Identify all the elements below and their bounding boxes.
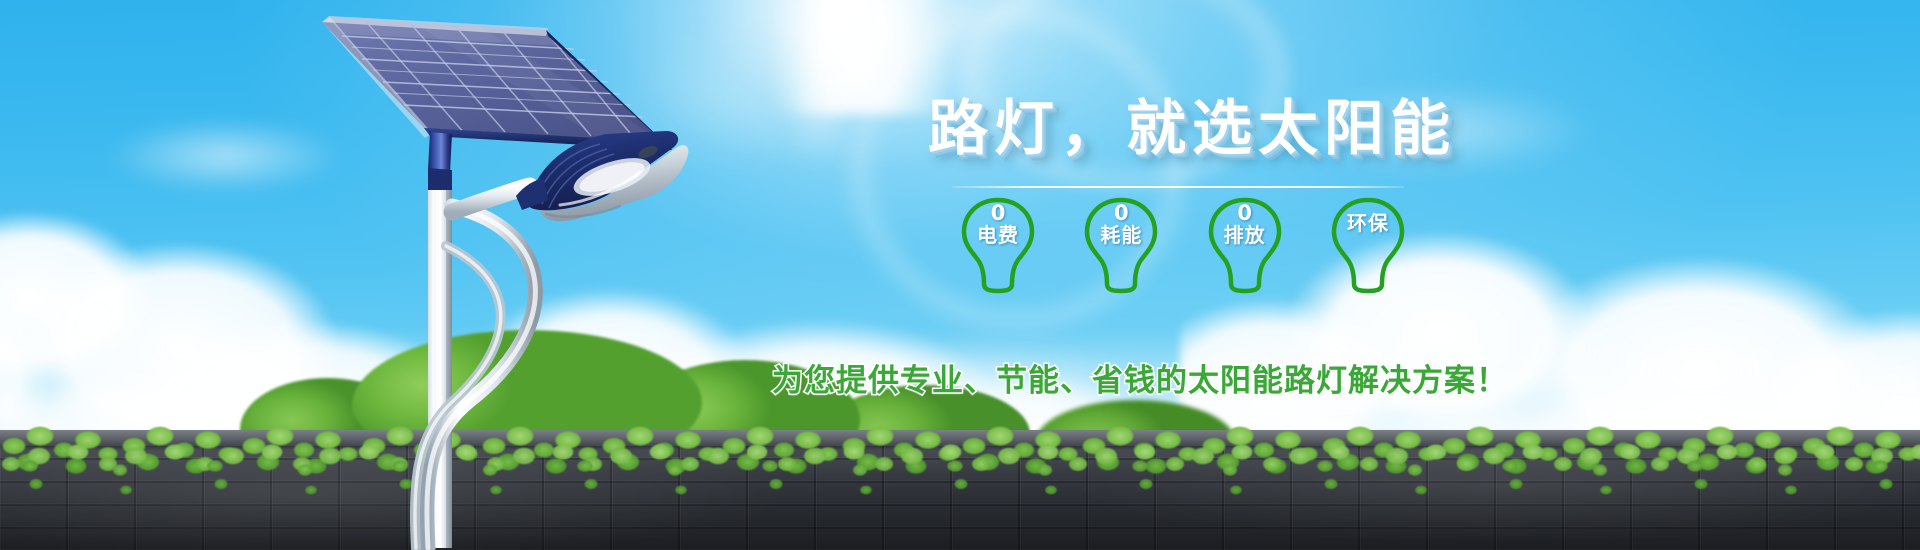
tagline: 为您提供专业、节能、省钱的太阳能路灯解决方案！ <box>772 355 1508 400</box>
badge-label: 排放 <box>1224 224 1266 246</box>
panel-mount-bracket <box>428 132 452 196</box>
headline-divider <box>952 186 1404 188</box>
feature-badge-electricity[interactable]: 0 电费 <box>952 196 1044 294</box>
badge-label: 耗能 <box>1100 224 1142 246</box>
badge-number: 0 <box>1114 202 1129 224</box>
feature-badge-emission[interactable]: 0 排放 <box>1199 196 1291 294</box>
feature-badge-text: 环保 <box>1322 196 1414 294</box>
solar-panel <box>322 16 672 150</box>
led-lamp-head <box>528 131 689 221</box>
solar-street-light-banner: 路灯，就选太阳能 0 电费 0 耗能 <box>0 0 1920 550</box>
badge-number: 0 <box>1237 202 1252 224</box>
badge-label: 环保 <box>1347 212 1389 234</box>
feature-badge-text: 0 电费 <box>952 196 1044 294</box>
feature-badge-text: 0 耗能 <box>1075 196 1167 294</box>
badge-number: 0 <box>991 202 1006 224</box>
feature-badge-consumption[interactable]: 0 耗能 <box>1075 196 1167 294</box>
badge-label: 电费 <box>977 224 1019 246</box>
feature-badge-eco[interactable]: 环保 <box>1322 196 1414 294</box>
page-title: 路灯，就选太阳能 <box>928 96 1456 162</box>
feature-badge-row: 0 电费 0 耗能 0 排放 <box>952 196 1414 294</box>
feature-badge-text: 0 排放 <box>1199 196 1291 294</box>
